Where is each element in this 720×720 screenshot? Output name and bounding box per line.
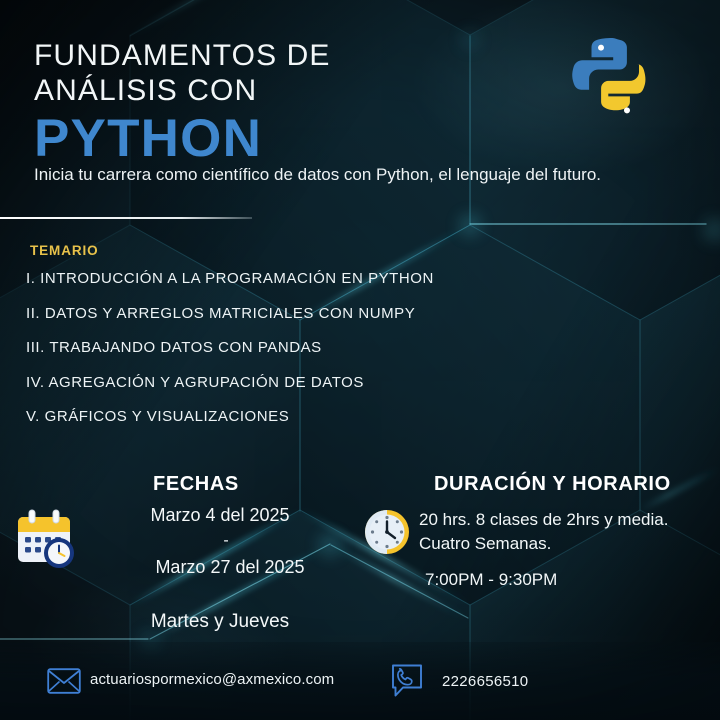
date-start: Marzo 4 del 2025 <box>100 506 340 524</box>
list-item: III. TRABAJANDO DATOS CON PANDAS <box>26 340 546 355</box>
list-item: IV. AGREGACIÓN Y AGRUPACIÓN DE DATOS <box>26 375 546 390</box>
dates-heading: FECHAS <box>153 473 239 496</box>
contact-phone[interactable]: 2226656510 <box>442 673 528 690</box>
date-end: Marzo 27 del 2025 <box>120 558 340 576</box>
list-item: V. GRÁFICOS Y VISUALIZACIONES <box>26 409 546 424</box>
title-divider <box>0 217 252 219</box>
page-title: FUNDAMENTOS DE ANÁLISIS CON <box>34 38 554 109</box>
python-logo <box>554 30 674 150</box>
phone-bubble-icon[interactable] <box>390 663 424 699</box>
poster-canvas: FUNDAMENTOS DE ANÁLISIS CON PYTHON Inici… <box>0 0 720 720</box>
list-item: II. DATOS Y ARREGLOS MATRICIALES CON NUM… <box>26 306 546 321</box>
clock-icon <box>362 507 412 557</box>
schedule-body: 20 hrs. 8 clases de 2hrs y media. Cuatro… <box>419 508 709 592</box>
schedule-heading: DURACIÓN Y HORARIO <box>434 473 671 496</box>
title-highlight: PYTHON <box>34 111 554 167</box>
date-separator: - <box>112 533 340 549</box>
calendar-clock-icon <box>14 508 78 570</box>
class-days: Martes y Jueves <box>100 612 340 631</box>
dates-body: Marzo 4 del 2025 - Marzo 27 del 2025 Mar… <box>100 506 340 631</box>
contact-email[interactable]: actuariospormexico@axmexico.com <box>90 671 334 688</box>
duration-line-1: 20 hrs. 8 clases de 2hrs y media. <box>419 510 668 529</box>
subtitle: Inicia tu carrera como científico de dat… <box>34 163 634 188</box>
syllabus-label: TEMARIO <box>30 243 99 258</box>
syllabus-list: I. INTRODUCCIÓN A LA PROGRAMACIÓN EN PYT… <box>26 271 546 444</box>
envelope-icon[interactable] <box>47 668 81 694</box>
list-item: I. INTRODUCCIÓN A LA PROGRAMACIÓN EN PYT… <box>26 271 546 286</box>
duration-line-2: Cuatro Semanas. <box>419 534 551 553</box>
title-block: FUNDAMENTOS DE ANÁLISIS CON PYTHON <box>34 38 554 166</box>
schedule-hours: 7:00PM - 9:30PM <box>425 568 709 592</box>
